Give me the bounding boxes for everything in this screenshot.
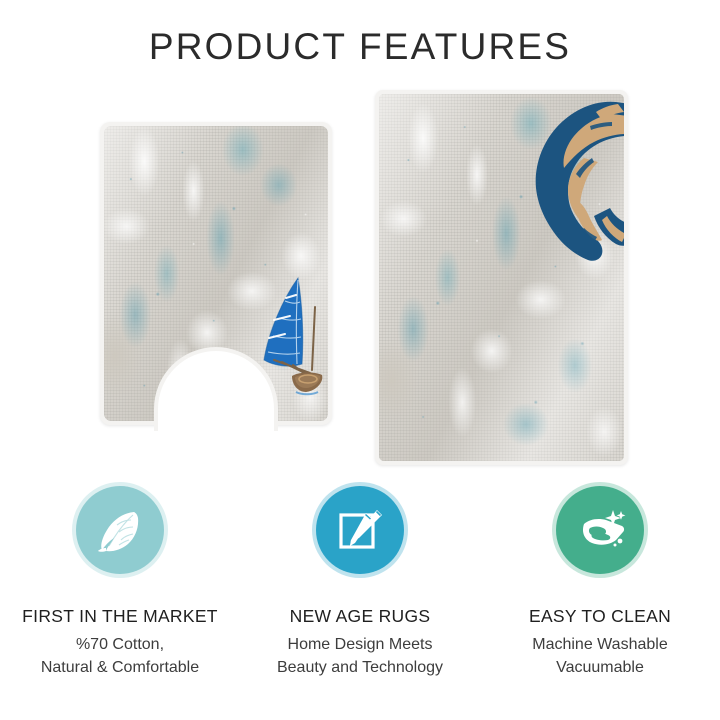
feature-icon-wrap-1: [70, 480, 170, 580]
horse-motif: [498, 96, 624, 276]
feature-new-age-rugs: NEW AGE RUGS Home Design Meets Beauty an…: [240, 480, 480, 720]
feature-sub-3: Machine Washable Vacuumable: [532, 634, 667, 679]
feature-sub-line-2: Beauty and Technology: [277, 657, 443, 680]
feature-sub-line-2: Vacuumable: [532, 657, 667, 680]
feature-sub-line-1: %70 Cotton,: [41, 634, 199, 657]
product-image-area: [0, 0, 720, 480]
feature-sub-line-1: Machine Washable: [532, 634, 667, 657]
feather-icon: [93, 503, 147, 557]
area-rug-surface: [379, 94, 624, 461]
feature-first-in-the-market: FIRST IN THE MARKET %70 Cotton, Natural …: [0, 480, 240, 720]
hand-wipe-clean-icon: [572, 502, 628, 558]
design-tools-icon: [333, 503, 387, 557]
feature-title-1: FIRST IN THE MARKET: [22, 606, 218, 627]
feature-easy-to-clean: EASY TO CLEAN Machine Washable Vacuumabl…: [480, 480, 720, 720]
rectangular-area-rug: [375, 90, 628, 465]
feature-sub-line-2: Natural & Comfortable: [41, 657, 199, 680]
feature-icon-wrap-3: [550, 480, 650, 580]
feature-title-2: NEW AGE RUGS: [290, 606, 431, 627]
feature-title-3: EASY TO CLEAN: [529, 606, 671, 627]
feature-icon-circle-1: [76, 486, 164, 574]
feature-columns: FIRST IN THE MARKET %70 Cotton, Natural …: [0, 480, 720, 720]
feature-sub-1: %70 Cotton, Natural & Comfortable: [41, 634, 199, 679]
feature-sub-2: Home Design Meets Beauty and Technology: [277, 634, 443, 679]
feature-sub-line-1: Home Design Meets: [277, 634, 443, 657]
feature-icon-circle-2: [316, 486, 404, 574]
feature-icon-wrap-2: [310, 480, 410, 580]
feature-icon-circle-3: [556, 486, 644, 574]
contour-toilet-mat: [100, 122, 332, 425]
